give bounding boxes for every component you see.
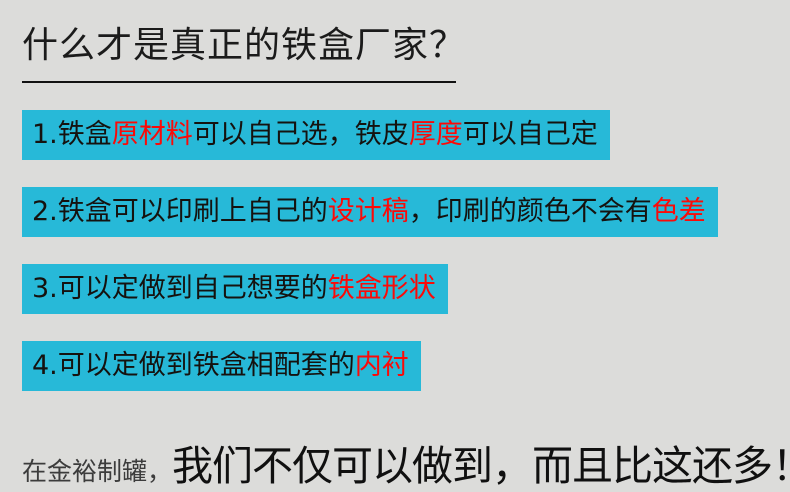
footer-comma: ， xyxy=(147,457,172,486)
point-segment-highlight: 厚度 xyxy=(409,119,463,150)
point-segment-highlight: 内衬 xyxy=(355,350,409,381)
point-segment-highlight: 色差 xyxy=(652,196,706,227)
point-segment: ，印刷的颜色不会有 xyxy=(409,196,652,227)
feature-point-row: 2.铁盒可以印刷上自己的设计稿，印刷的颜色不会有色差 xyxy=(22,187,782,237)
point-number-3: 3. xyxy=(32,273,58,304)
footer-brand-name: 金裕制罐 xyxy=(47,457,147,486)
point-segment: 可以自己定 xyxy=(463,119,598,150)
page-title: 什么才是真正的铁盒厂家？ xyxy=(22,22,456,70)
point-number-4: 4. xyxy=(32,350,58,381)
point-segment: 可以自己选，铁皮 xyxy=(193,119,409,150)
point-segment: 铁盒可以印刷上自己的 xyxy=(58,196,328,227)
promo-page: 什么才是真正的铁盒厂家？ 1.铁盒原材料可以自己选，铁皮厚度可以自己定 2.铁盒… xyxy=(0,0,790,489)
feature-point-banner-1: 1.铁盒原材料可以自己选，铁皮厚度可以自己定 xyxy=(22,110,610,160)
point-number-2: 2. xyxy=(32,196,58,227)
feature-point-row: 3.可以定做到自己想要的铁盒形状 xyxy=(22,264,782,314)
point-segment: 可以定做到铁盒相配套的 xyxy=(58,350,355,381)
point-segment: 铁盒 xyxy=(58,119,112,150)
point-segment-highlight: 原材料 xyxy=(112,119,193,150)
footer-statement: 在金裕制罐，我们不仅可以做到，而且比这还多！ xyxy=(22,432,790,492)
point-segment: 可以定做到自己想要的 xyxy=(58,273,328,304)
point-number-1: 1. xyxy=(32,119,58,150)
feature-point-row: 4.可以定做到铁盒相配套的内衬 xyxy=(22,341,782,391)
point-segment-highlight: 设计稿 xyxy=(328,196,409,227)
feature-point-banner-2: 2.铁盒可以印刷上自己的设计稿，印刷的颜色不会有色差 xyxy=(22,187,718,237)
footer-prefix: 在 xyxy=(22,457,47,486)
footer-main-statement: 我们不仅可以做到，而且比这还多！ xyxy=(172,442,790,490)
feature-point-banner-4: 4.可以定做到铁盒相配套的内衬 xyxy=(22,341,421,391)
title-divider xyxy=(22,81,456,83)
feature-points-list: 1.铁盒原材料可以自己选，铁皮厚度可以自己定 2.铁盒可以印刷上自己的设计稿，印… xyxy=(22,110,782,418)
feature-point-row: 1.铁盒原材料可以自己选，铁皮厚度可以自己定 xyxy=(22,110,782,160)
feature-point-banner-3: 3.可以定做到自己想要的铁盒形状 xyxy=(22,264,448,314)
title-block: 什么才是真正的铁盒厂家？ xyxy=(22,22,456,83)
point-segment-highlight: 铁盒形状 xyxy=(328,273,436,304)
